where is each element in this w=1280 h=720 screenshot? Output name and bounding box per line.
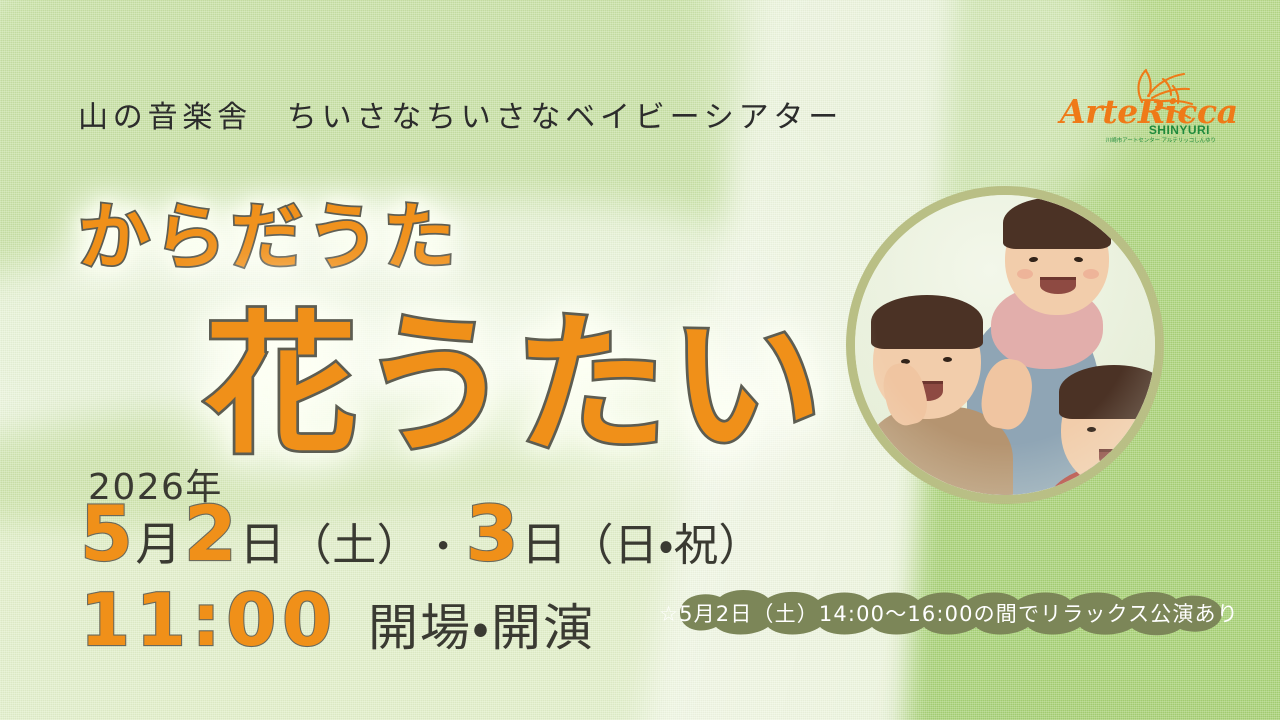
date-day2-number: 3 <box>466 500 519 568</box>
date-day2-unit: 日 <box>521 508 567 574</box>
date-day1-number: 2 <box>184 500 237 568</box>
date-month-number: 5 <box>80 500 133 568</box>
poster-root: 山の音楽舎 ちいさなちいさなベイビーシアター ArteRicca SHINYUR… <box>0 0 1280 720</box>
date-day1-weekday: （土） <box>288 509 421 573</box>
babies-photo <box>846 186 1164 504</box>
time-label: 開場・開演 <box>368 588 595 660</box>
date-month-unit: 月 <box>135 508 181 574</box>
logo-caption: 川崎市アートセンター アルテリッコしんゆり <box>1106 136 1216 144</box>
performance-date: 5 月 2 日 （土） ・ 3 日 （日・祝） <box>80 500 763 574</box>
date-separator: ・ <box>421 514 465 572</box>
main-title-hanautai: 花うたい <box>205 262 825 482</box>
date-day2-weekday: （日・祝） <box>570 509 763 573</box>
artericca-logo[interactable]: ArteRicca SHINYURI 川崎市アートセンター アルテリッコしんゆり <box>1052 62 1222 150</box>
time-clock: 11:00 <box>80 584 338 656</box>
performance-time: 11:00 開場・開演 <box>80 584 595 660</box>
babies-photo-inner <box>855 195 1155 495</box>
logo-subtitle: SHINYURI <box>1149 123 1210 137</box>
relax-performance-banner: ☆5月2日（土）14:00〜16:00の間でリラックス公演あり <box>650 588 1248 638</box>
relax-banner-text: ☆5月2日（土）14:00〜16:00の間でリラックス公演あり <box>650 588 1248 638</box>
date-day1-unit: 日 <box>239 508 285 574</box>
photo-vignette <box>855 195 1155 495</box>
company-and-series-title: 山の音楽舎 ちいさなちいさなベイビーシアター <box>78 92 843 136</box>
